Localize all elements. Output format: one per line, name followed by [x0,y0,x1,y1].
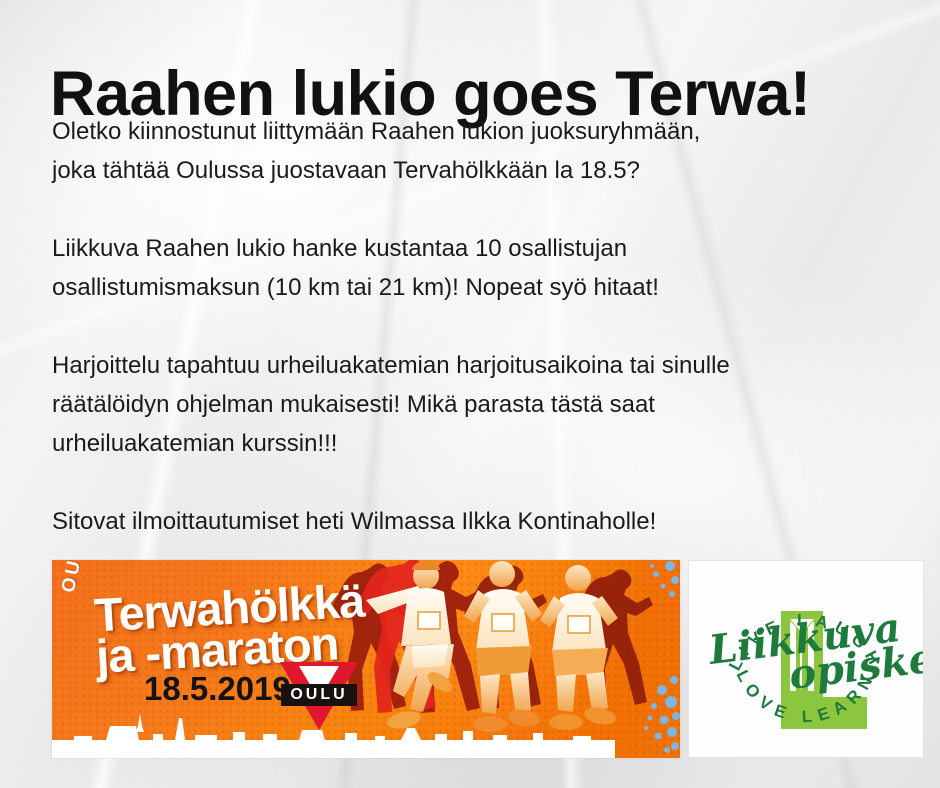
blue-splatter-decoration [634,560,680,758]
paragraph-signup: Sitovat ilmoittautumiset heti Wilmassa I… [52,502,892,541]
oulu-logo-label: OULU [281,684,357,706]
paragraph-spacer [52,307,892,346]
paragraph-line: räätälöidyn ohjelman mukaisesti! Mikä pa… [52,391,655,418]
logo-arc-top-label: LIVE LAUGH [689,757,690,758]
body-copy: Oletko kiinnostunut liittymään Raahen lu… [52,112,892,541]
paragraph-intro: Oletko kiinnostunut liittymään Raahen lu… [52,112,892,190]
paragraph-line: Oletko kiinnostunut liittymään Raahen lu… [52,118,700,145]
paragraph-spacer [52,463,892,502]
oulu-city-logo: OULU [280,662,358,732]
liikkuva-opiskelu-logo-svg: LIVE LAUGH LOVE LEARN Liikkuva opiskelu [689,561,923,757]
paragraph-line: osallistumismaksun (10 km tai 21 km)! No… [52,274,659,301]
paragraph-line: joka tähtää Oulussa juostavaan Tervahölk… [52,157,640,184]
logo-script-label-1: Liikkuva [689,757,690,758]
poster-slide: Raahen lukio goes Terwa! Oletko kiinnost… [0,0,940,788]
logo-script-label-2: opiskelu [689,757,690,758]
paragraph-line: Liikkuva Raahen lukio hanke kustantaa 10… [52,235,627,262]
city-skyline-silhouette [52,714,680,758]
blue-splatter-svg [634,560,680,758]
media-strip: OULUN Terwahölkkä ja -maraton 18.5.2019 … [52,560,924,758]
terwaholkka-banner-image: OULUN Terwahölkkä ja -maraton 18.5.2019 … [52,560,680,758]
paragraph-line: urheiluakatemian kurssin!!! [52,430,337,457]
paragraph-funding: Liikkuva Raahen lukio hanke kustantaa 10… [52,229,892,307]
city-skyline-svg [52,714,680,758]
liikkuva-opiskelu-logo-card: LIVE LAUGH LOVE LEARN Liikkuva opiskelu … [688,560,924,758]
banner-event-date: 18.5.2019 [144,670,291,708]
logo-arc-bottom-label: LOVE LEARN [689,757,690,758]
paragraph-line: Harjoittelu tapahtuu urheiluakatemian ha… [52,352,730,379]
runners-photo-illustration [356,560,656,742]
paragraph-line: Sitovat ilmoittautumiset heti Wilmassa I… [52,508,656,535]
paragraph-training: Harjoittelu tapahtuu urheiluakatemian ha… [52,346,892,463]
paragraph-spacer [52,190,892,229]
runners-photo-svg [356,560,656,742]
banner-prefix-oulun: OULUN [58,560,97,595]
